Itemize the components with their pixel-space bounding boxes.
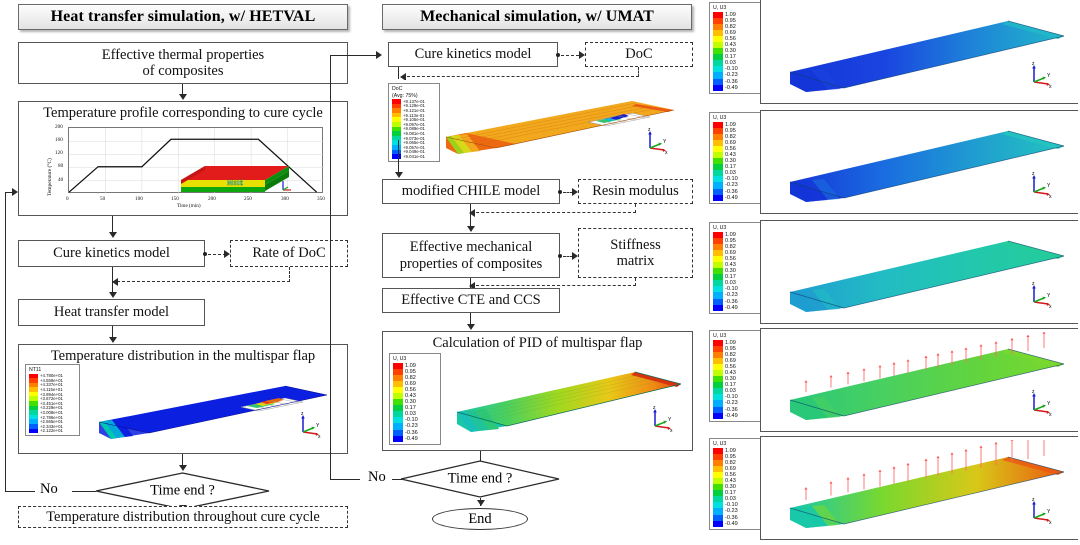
- legend-swatch: [713, 413, 723, 419]
- legend-value: 0.30: [405, 399, 416, 405]
- node-cure-kinetics-model-heat: Cure kinetics model: [18, 240, 205, 267]
- legend-value: 0.03: [725, 388, 736, 394]
- arrow-doc-to-chile: [395, 172, 403, 178]
- legend-value: -0.49: [725, 413, 738, 419]
- node-heat-transfer-model: Heat transfer model: [18, 299, 205, 326]
- dashed-return-stiffness-h: [471, 285, 636, 286]
- node-temperature-profile-label: Temperature profile corresponding to cur…: [19, 105, 347, 122]
- node-cure-kinetics-model-mech-label: Cure kinetics model: [415, 46, 532, 62]
- svg-text:Y: Y: [668, 417, 672, 423]
- legend-value: -0.10: [725, 286, 738, 292]
- no-branch-mech-h-left: [330, 479, 360, 480]
- mechanical-simulation-column: Mechanical simulation, w/ UMAT Cure kine…: [370, 0, 710, 530]
- heat-transfer-column: Heat transfer simulation, w/ HETVAL Effe…: [0, 0, 370, 530]
- legend-value: 0.69: [725, 140, 736, 146]
- deformation-step-1: zYx: [776, 4, 1076, 104]
- svg-text:x: x: [1049, 520, 1052, 524]
- chart-xtick-50: 50: [100, 196, 105, 202]
- no-label-mech: No: [368, 469, 386, 486]
- legend-swatch: [713, 521, 723, 527]
- legend-value: -0.49: [725, 305, 738, 311]
- arrow-effective-to-stiffness: [572, 252, 578, 260]
- axis-triad-view-3: zYx: [1028, 282, 1054, 308]
- legend-value: 0.43: [725, 152, 736, 158]
- connector-doc-to-chile: [398, 140, 399, 176]
- legend-value: 0.17: [725, 382, 736, 388]
- legend-value: 0.56: [725, 472, 736, 478]
- arrow-kinetics-to-doc: [224, 250, 230, 258]
- node-cure-kinetics-model-mech: Cure kinetics model: [388, 42, 558, 67]
- legend-value: -0.10: [725, 176, 738, 182]
- deformation-step-3: zYx: [776, 224, 1076, 324]
- deformation-step-5: zYx: [776, 440, 1076, 540]
- legend-row: -0.49: [713, 195, 758, 201]
- legend-value: 0.17: [725, 274, 736, 280]
- node-effective-cte-ccs: Effective CTE and CCS: [382, 288, 560, 313]
- node-modified-chile-model-label: modified CHILE model: [402, 183, 541, 199]
- dashed-return-doc-mech-h: [402, 76, 639, 77]
- legend-value: 0.56: [725, 256, 736, 262]
- legend-value: -0.23: [725, 400, 738, 406]
- legend-value: 1.09: [725, 122, 736, 128]
- node-resin-modulus-label: Resin modulus: [592, 183, 679, 199]
- legend-row: -0.49: [713, 521, 758, 527]
- flap-axis-triad-pid: z Y x: [649, 406, 675, 432]
- node-modified-chile-model: modified CHILE model: [382, 179, 560, 204]
- legend-value: 0.82: [725, 24, 736, 30]
- svg-text:x: x: [1049, 84, 1052, 88]
- node-doc: DoC: [585, 42, 693, 67]
- legend-value: 0.03: [725, 60, 736, 66]
- no-label-heat: No: [40, 481, 58, 498]
- legend-value: 0.30: [725, 268, 736, 274]
- legend-value: 1.09: [725, 340, 736, 346]
- legend-value: 0.95: [725, 128, 736, 134]
- svg-text:x: x: [1049, 194, 1052, 198]
- legend-u3-view-4: U, U31.090.950.820.690.560.430.300.170.0…: [709, 330, 761, 422]
- no-branch-h-left: [5, 491, 35, 492]
- svg-text:Y: Y: [316, 423, 320, 429]
- legend-value: -0.10: [725, 502, 738, 508]
- svg-text:Y: Y: [1047, 73, 1051, 79]
- legend-value: -0.36: [405, 430, 418, 436]
- chart-x-axis-title: Time (min): [177, 203, 201, 209]
- dashed-link-kinetics-to-doc-mech: [561, 55, 579, 56]
- legend-value: -0.10: [725, 394, 738, 400]
- legend-value: 0.30: [725, 376, 736, 382]
- legend-value: -0.10: [405, 417, 418, 423]
- chart-xtick-350: 350: [317, 196, 325, 202]
- legend-value: 0.56: [725, 146, 736, 152]
- connector-kinetics-to-heat-model: [112, 267, 113, 295]
- legend-value: -0.49: [725, 195, 738, 201]
- node-end-label: End: [468, 511, 491, 528]
- svg-text:x: x: [665, 150, 668, 154]
- deformation-step-2: zYx: [776, 114, 1076, 214]
- svg-text:Y: Y: [1047, 401, 1051, 407]
- dashed-return-doc-h: [112, 281, 290, 282]
- legend-value: 0.82: [405, 375, 416, 381]
- arrow-decision-to-end: [477, 500, 485, 506]
- legend-value: -0.23: [725, 508, 738, 514]
- svg-text:Mold: Mold: [227, 180, 243, 187]
- dashed-return-resin-h: [471, 212, 636, 213]
- legend-row: -0.49: [713, 85, 758, 91]
- no-branch-h-right: [72, 491, 96, 492]
- legend-u3-pid: U, U31.090.950.820.690.560.430.300.170.0…: [389, 353, 441, 445]
- legend-value: -0.49: [405, 436, 418, 442]
- legend-value: 0.69: [725, 30, 736, 36]
- legend-u3-view-2: U, U31.090.950.820.690.560.430.300.170.0…: [709, 112, 761, 204]
- deformation-step-4: zYx: [776, 332, 1076, 432]
- mold-inset-3d: Mold: [167, 158, 297, 200]
- connector-kinetics-down-mech: [398, 67, 399, 79]
- legend-value: 0.43: [405, 393, 416, 399]
- no-branch-v: [5, 192, 6, 492]
- node-temperature-distribution-cure-cycle: Temperature distribution throughout cure…: [18, 506, 348, 528]
- legend-swatch: [713, 305, 723, 311]
- node-temperature-distribution-label: Temperature distribution in the multispa…: [19, 348, 347, 365]
- node-temperature-distribution-cure-cycle-label: Temperature distribution throughout cure…: [46, 509, 320, 525]
- axis-triad-view-1: zYx: [1028, 62, 1054, 88]
- legend-value: -0.49: [725, 521, 738, 527]
- legend-value: 0.03: [405, 411, 416, 417]
- node-effective-cte-ccs-label: Effective CTE and CCS: [401, 292, 540, 308]
- arrow-distribution-to-decision: [179, 465, 187, 471]
- legend-value: 0.43: [725, 42, 736, 48]
- legend-value: -0.36: [725, 189, 738, 195]
- node-effective-mechanical-properties-label: Effective mechanical properties of compo…: [400, 239, 543, 271]
- node-temperature-distribution: Temperature distribution in the multispa…: [18, 344, 348, 454]
- legend-value: -0.10: [725, 66, 738, 72]
- legend-value: 0.56: [725, 364, 736, 370]
- axis-triad-view-2: zYx: [1028, 172, 1054, 198]
- decision-time-end-mech: Time end ?: [400, 460, 560, 498]
- chart-y-axis-title: Temperature (°C): [47, 158, 53, 196]
- arrow-kinetics-to-heat-model: [109, 292, 117, 298]
- legend-value: 0.43: [725, 478, 736, 484]
- node-resin-modulus: Resin modulus: [578, 179, 693, 204]
- legend-value: 0.95: [725, 18, 736, 24]
- arrow-heat-model-to-distribution: [109, 337, 117, 343]
- svg-text:x: x: [318, 434, 321, 438]
- u3-legend-column: U, U31.090.950.820.690.560.430.300.170.0…: [705, 0, 767, 530]
- no-branch-mech-h-right: [392, 479, 402, 480]
- node-effective-mechanical-properties: Effective mechanical properties of compo…: [382, 233, 560, 278]
- legend-value: 0.82: [725, 352, 736, 358]
- node-calculation-pid: Calculation of PID of multispar flap U, …: [382, 331, 693, 451]
- legend-value: 0.69: [725, 466, 736, 472]
- legend-value: 0.03: [725, 170, 736, 176]
- flap-axis-triad-temperature: z Y x: [297, 412, 323, 438]
- legend-value: -0.36: [725, 515, 738, 521]
- axis-triad-view-5: zYx: [1028, 498, 1054, 524]
- legend-value: 0.03: [725, 496, 736, 502]
- legend-value: -0.23: [725, 72, 738, 78]
- decision-time-end-heat-label: Time end ?: [95, 483, 270, 500]
- arrow-thermal-to-profile: [179, 94, 187, 100]
- node-stiffness-matrix-label: Stiffness matrix: [610, 237, 661, 269]
- legend-value: -0.23: [725, 292, 738, 298]
- legend-value: 0.82: [725, 134, 736, 140]
- legend-value: +2.122e+01: [40, 428, 63, 433]
- mechanical-panel-title: Mechanical simulation, w/ UMAT: [382, 4, 692, 30]
- flap-model-pid: z Y x: [449, 354, 689, 446]
- legend-value: 0.17: [405, 405, 416, 411]
- node-stiffness-matrix: Stiffness matrix: [578, 228, 693, 278]
- svg-text:x: x: [1049, 304, 1052, 308]
- legend-value: 0.03: [725, 280, 736, 286]
- no-branch-mech-v: [330, 55, 331, 480]
- legend-swatch: [713, 85, 723, 91]
- legend-value: 0.95: [725, 454, 736, 460]
- legend-u3-view-3: U, U31.090.950.820.690.560.430.300.170.0…: [709, 222, 761, 314]
- node-doc-contour: DoC(Avg: 75%)+9.137e-01+9.129e-01+9.121e…: [388, 80, 693, 172]
- legend-swatch: [29, 429, 38, 434]
- link-dot-kinetics-right: [203, 252, 207, 256]
- legend-value: 0.30: [725, 158, 736, 164]
- chart-ytick-120: 120: [55, 150, 63, 156]
- legend-value: 0.56: [405, 387, 416, 393]
- node-rate-of-doc-label: Rate of DoC: [252, 245, 325, 261]
- arrow-profile-to-kinetics: [109, 232, 117, 238]
- legend-value: 1.09: [725, 448, 736, 454]
- link-dot-effective: [558, 254, 562, 258]
- legend-value: -0.36: [725, 299, 738, 305]
- legend-row: -0.49: [393, 436, 438, 442]
- legend-value: -0.49: [725, 85, 738, 91]
- legend-swatch: [392, 154, 401, 159]
- mold-axis-triad: [279, 178, 295, 194]
- legend-value: -0.23: [405, 423, 418, 429]
- legend-value: -0.23: [725, 182, 738, 188]
- node-doc-label: DoC: [625, 46, 652, 62]
- legend-row: -0.49: [713, 305, 758, 311]
- dashed-return-doc-v: [289, 267, 290, 282]
- legend-row: -0.49: [713, 413, 758, 419]
- link-dot-mech-kinetics: [556, 53, 560, 57]
- node-effective-thermal-properties: Effective thermal properties of composit…: [18, 42, 348, 84]
- decision-time-end-mech-label: Time end ?: [400, 471, 560, 488]
- flap-axis-triad-doc: z Y x: [644, 128, 670, 154]
- chart-ytick-200: 200: [55, 124, 63, 130]
- legend-value: 0.30: [725, 484, 736, 490]
- legend-value: 0.82: [725, 460, 736, 466]
- legend-row: +2.122e+01: [29, 429, 77, 434]
- svg-text:x: x: [670, 428, 673, 432]
- legend-value: 1.09: [725, 12, 736, 18]
- legend-value: 0.69: [405, 381, 416, 387]
- legend-value: 0.43: [725, 370, 736, 376]
- arrow-kinetics-to-doc-mech: [579, 51, 585, 59]
- arrow-no-branch-to-profile: [12, 188, 18, 196]
- node-heat-transfer-model-label: Heat transfer model: [54, 304, 169, 320]
- chart-ytick-160: 160: [55, 137, 63, 143]
- arrow-chile-to-effective: [467, 226, 475, 232]
- flap-model-doc: z Y x: [436, 82, 686, 166]
- legend-doc: DoC(Avg: 75%)+9.137e-01+9.129e-01+9.121e…: [388, 83, 440, 162]
- chart-xtick-0: 0: [66, 196, 69, 202]
- svg-text:Y: Y: [1047, 183, 1051, 189]
- chart-xtick-100: 100: [135, 196, 143, 202]
- svg-text:Y: Y: [663, 139, 667, 145]
- legend-swatch: [393, 436, 403, 442]
- legend-u3-view-1: U, U31.090.950.820.690.560.430.300.170.0…: [709, 2, 761, 94]
- deformation-views-column: zYxzYxzYxzYxzYx: [762, 0, 1080, 530]
- legend-swatch: [713, 195, 723, 201]
- svg-text:x: x: [1049, 412, 1052, 416]
- legend-value: +9.041e-01: [403, 154, 425, 159]
- legend-value: 0.82: [725, 244, 736, 250]
- legend-value: 0.95: [725, 238, 736, 244]
- legend-value: 0.95: [405, 369, 416, 375]
- link-dot-chile: [558, 190, 562, 194]
- legend-value: 0.43: [725, 262, 736, 268]
- legend-value: 0.17: [725, 164, 736, 170]
- arrow-no-branch-mech: [376, 51, 382, 59]
- legend-nt11: NT11+4.780e+01+4.559e+01+4.337e+01+4.115…: [25, 364, 80, 436]
- legend-value: 0.17: [725, 54, 736, 60]
- svg-text:Y: Y: [1047, 293, 1051, 299]
- flap-model-temperature: z Y x: [89, 367, 339, 449]
- legend-value: 1.09: [405, 363, 416, 369]
- node-cure-kinetics-model-heat-label: Cure kinetics model: [53, 245, 170, 261]
- arrow-chile-to-resin: [572, 188, 578, 196]
- no-branch-mech-to-kinetics: [330, 55, 376, 56]
- axis-triad-view-4: zYx: [1028, 390, 1054, 416]
- node-end: End: [432, 508, 528, 530]
- legend-value: 1.09: [725, 232, 736, 238]
- arrow-cte-to-pid: [467, 324, 475, 330]
- legend-value: -0.36: [725, 79, 738, 85]
- legend-value: 0.69: [725, 250, 736, 256]
- legend-value: 0.56: [725, 36, 736, 42]
- chart-ytick-80: 80: [58, 163, 63, 169]
- chart-ytick-40: 40: [58, 177, 63, 183]
- svg-text:Y: Y: [1047, 509, 1051, 515]
- legend-value: 0.30: [725, 48, 736, 54]
- node-effective-thermal-properties-label: Effective thermal properties of composit…: [102, 47, 264, 79]
- legend-value: 0.17: [725, 490, 736, 496]
- legend-value: 0.95: [725, 346, 736, 352]
- legend-value: 0.69: [725, 358, 736, 364]
- node-temperature-profile: Temperature profile corresponding to cur…: [18, 101, 348, 216]
- legend-value: -0.36: [725, 407, 738, 413]
- legend-u3-view-5: U, U31.090.950.820.690.560.430.300.170.0…: [709, 438, 761, 530]
- heat-transfer-panel-title: Heat transfer simulation, w/ HETVAL: [18, 4, 348, 30]
- node-calculation-pid-label: Calculation of PID of multispar flap: [383, 335, 692, 352]
